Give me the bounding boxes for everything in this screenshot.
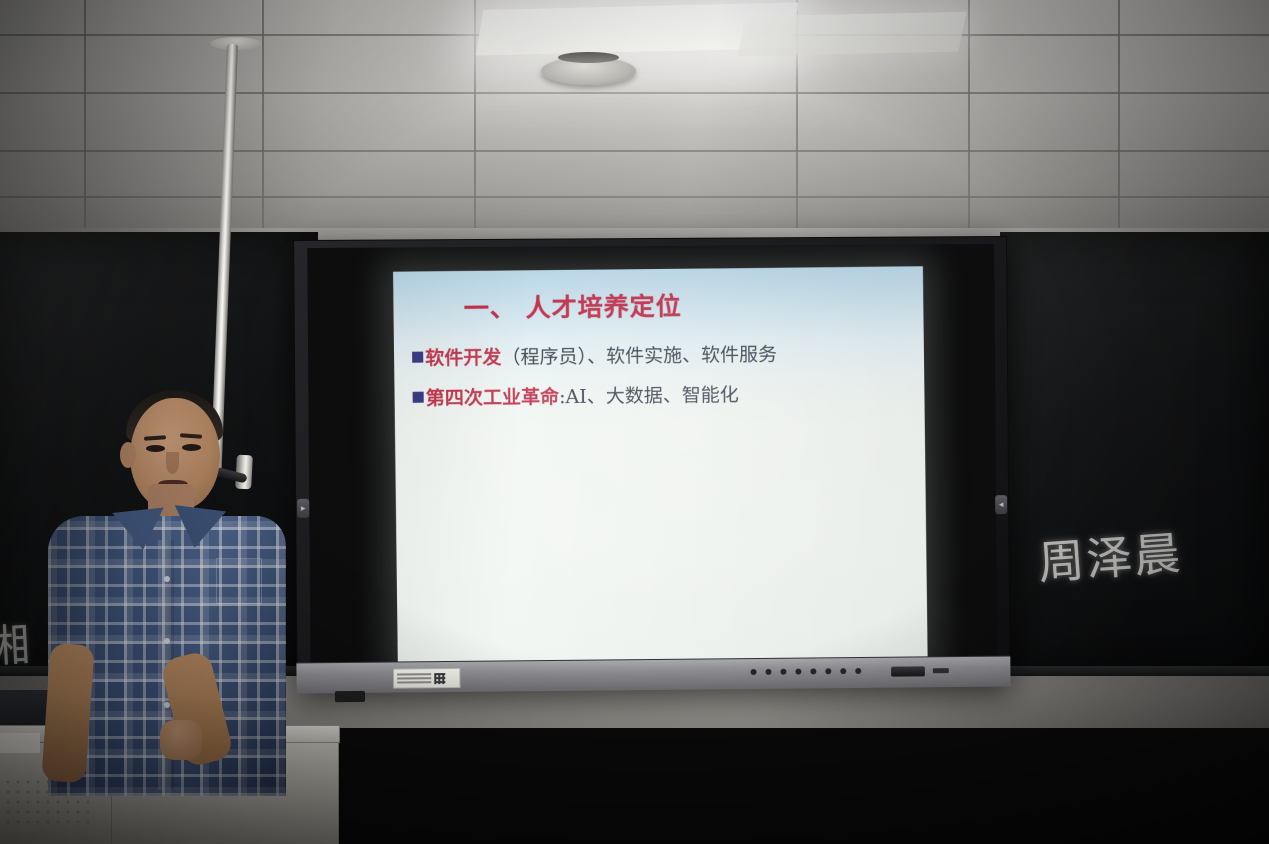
presenter-eye-left <box>146 445 165 452</box>
presenter-hand <box>160 720 202 760</box>
presenter-eye-right <box>182 444 201 451</box>
bullet-2-rest: :AI、大数据、智能化 <box>559 380 739 409</box>
chalk-note-student-name: 周泽晨 <box>1036 517 1184 593</box>
presenter-shirt-pocket <box>216 558 262 604</box>
bullet-1-highlight: 软件开发 <box>425 343 502 371</box>
presenter-ear <box>120 442 136 468</box>
slide-bullet-1: 软件开发 （程序员）、软件实施、软件服务 <box>412 340 777 371</box>
slide-title: 一、 人才培养定位 <box>464 284 904 325</box>
classroom-scene: 湘 网络 物联网 计算 数据 周泽晨 一、 人才培养定位 软件开发 （程序员）、… <box>0 0 1269 844</box>
bullet-1-rest: （程序员）、软件实施、软件服务 <box>501 340 777 370</box>
bullet-2-highlight: 第四次工业革命 <box>426 382 560 411</box>
smart-board-right-side-button[interactable]: ◂ <box>995 495 1007 514</box>
square-bullet-icon <box>412 352 423 363</box>
smart-board-left-side-button[interactable]: ▸ <box>297 499 309 518</box>
presenter-lecturer <box>40 390 290 790</box>
slide-bullet-2: 第四次工业革命 :AI、大数据、智能化 <box>412 380 738 411</box>
square-bullet-icon <box>413 392 424 403</box>
ceiling <box>0 0 1269 240</box>
